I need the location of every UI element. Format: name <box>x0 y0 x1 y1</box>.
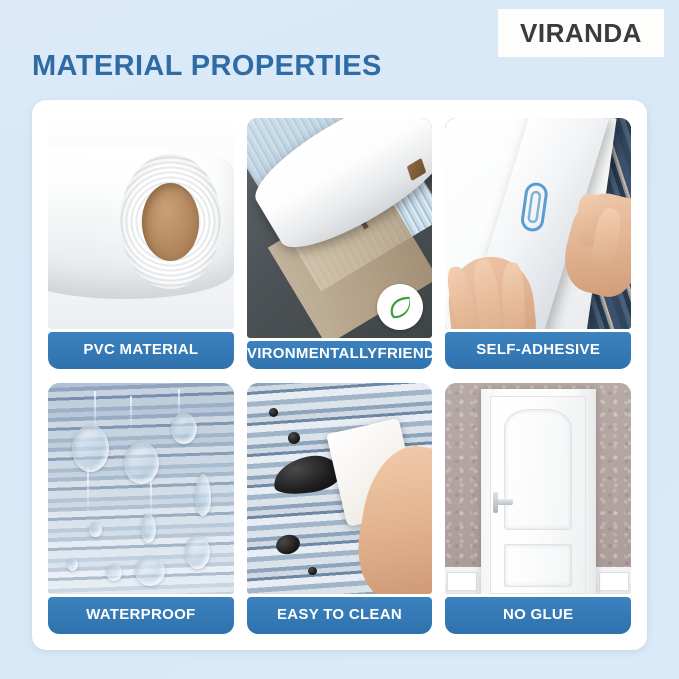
finger <box>501 262 526 329</box>
feature-tile-environmentally-friendly: ENVIRONMENTALLY FRIENDLY <box>247 118 433 369</box>
self-adhesive-photo <box>445 118 631 329</box>
feature-tile-no-glue: NO GLUE <box>445 383 631 634</box>
water-droplet <box>124 442 159 484</box>
leaf-icon <box>385 292 415 322</box>
eco-leaf-badge <box>377 284 423 330</box>
feature-card: PVC MATERIAL <box>32 100 647 650</box>
water-streak <box>87 467 89 513</box>
peel-illustration <box>445 118 631 329</box>
feature-label-environmentally-friendly: ENVIRONMENTALLY FRIENDLY <box>247 341 433 369</box>
feature-tile-pvc-material: PVC MATERIAL <box>48 118 234 369</box>
water-droplet <box>195 474 212 516</box>
water-droplet <box>106 564 123 581</box>
door-slab <box>490 396 587 593</box>
door-handle <box>495 499 513 505</box>
eco-illustration <box>247 118 433 338</box>
brand-name: VIRANDA <box>520 18 642 49</box>
feature-grid: PVC MATERIAL <box>48 118 631 634</box>
eco-wallpaper-photo <box>247 118 433 338</box>
label-line-2: FRIENDLY <box>377 346 432 362</box>
water-droplet <box>72 425 109 471</box>
stain-mark <box>274 532 302 556</box>
water-droplet <box>67 558 78 571</box>
water-droplet <box>185 535 209 569</box>
feature-tile-easy-to-clean: EASY TO CLEAN <box>247 383 433 634</box>
feature-label-no-glue: NO GLUE <box>445 597 631 634</box>
no-glue-photo <box>445 383 631 594</box>
stain-mark <box>308 567 317 575</box>
brand-badge: VIRANDA <box>498 9 664 57</box>
wall-panel-left <box>447 572 477 591</box>
water-droplet <box>141 514 156 544</box>
water-droplet <box>171 413 197 445</box>
feature-label-easy-to-clean: EASY TO CLEAN <box>247 597 433 634</box>
stain-mark <box>269 408 278 416</box>
waterproof-photo <box>48 383 234 594</box>
stain-mark <box>288 432 301 445</box>
wall-panel-right <box>599 572 629 591</box>
water-droplet <box>89 522 102 537</box>
page-title: MATERIAL PROPERTIES <box>32 50 382 83</box>
feature-tile-waterproof: WATERPROOF <box>48 383 234 634</box>
door-illustration <box>445 383 631 594</box>
easy-to-clean-photo <box>247 383 433 594</box>
feature-tile-self-adhesive: SELF-ADHESIVE <box>445 118 631 369</box>
feature-label-pvc-material: PVC MATERIAL <box>48 332 234 369</box>
water-streak <box>130 396 132 430</box>
water-streak <box>150 480 152 518</box>
label-line-1: ENVIRONMENTALLY <box>247 346 378 362</box>
pvc-roll-photo <box>48 118 234 329</box>
door-frame <box>481 389 596 594</box>
door-panel-top <box>504 409 572 530</box>
water-droplet <box>135 556 165 586</box>
feature-label-waterproof: WATERPROOF <box>48 597 234 634</box>
pvc-roll-illustration <box>48 118 234 329</box>
easy-to-clean-illustration <box>247 383 433 594</box>
feature-label-self-adhesive: SELF-ADHESIVE <box>445 332 631 369</box>
door-panel-bottom <box>504 544 572 587</box>
waterproof-illustration <box>48 383 234 594</box>
infographic-page: VIRANDA MATERIAL PROPERTIES PVC MATERIAL <box>0 0 679 679</box>
